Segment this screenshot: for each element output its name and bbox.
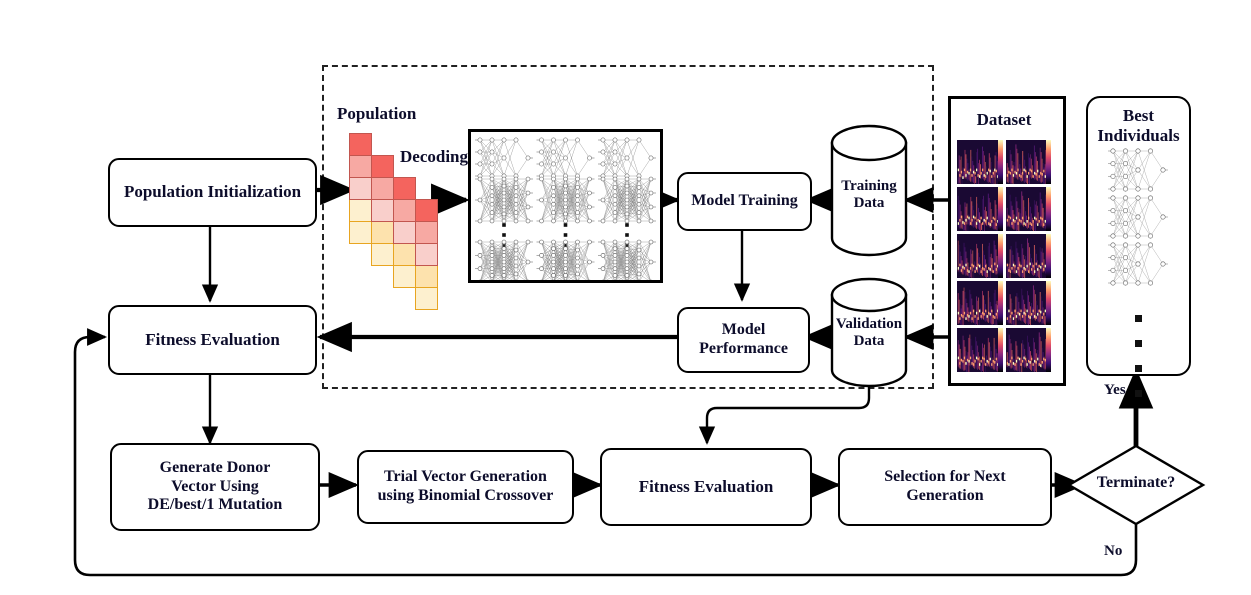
flowchart-canvas: Population Initialization Population Dec… <box>0 0 1251 595</box>
training-data-label: Training Data <box>832 178 906 213</box>
dataset-title: Dataset <box>948 110 1060 130</box>
decoding-caption: Decoding <box>400 147 468 167</box>
yes-edge-label: Yes <box>1104 382 1126 399</box>
terminate-label: Terminate? <box>1069 474 1203 492</box>
database-cylinders <box>0 0 1251 595</box>
no-edge-label: No <box>1104 543 1122 560</box>
validation-data-label: Validation Data <box>828 316 910 351</box>
population-caption: Population <box>337 104 416 124</box>
